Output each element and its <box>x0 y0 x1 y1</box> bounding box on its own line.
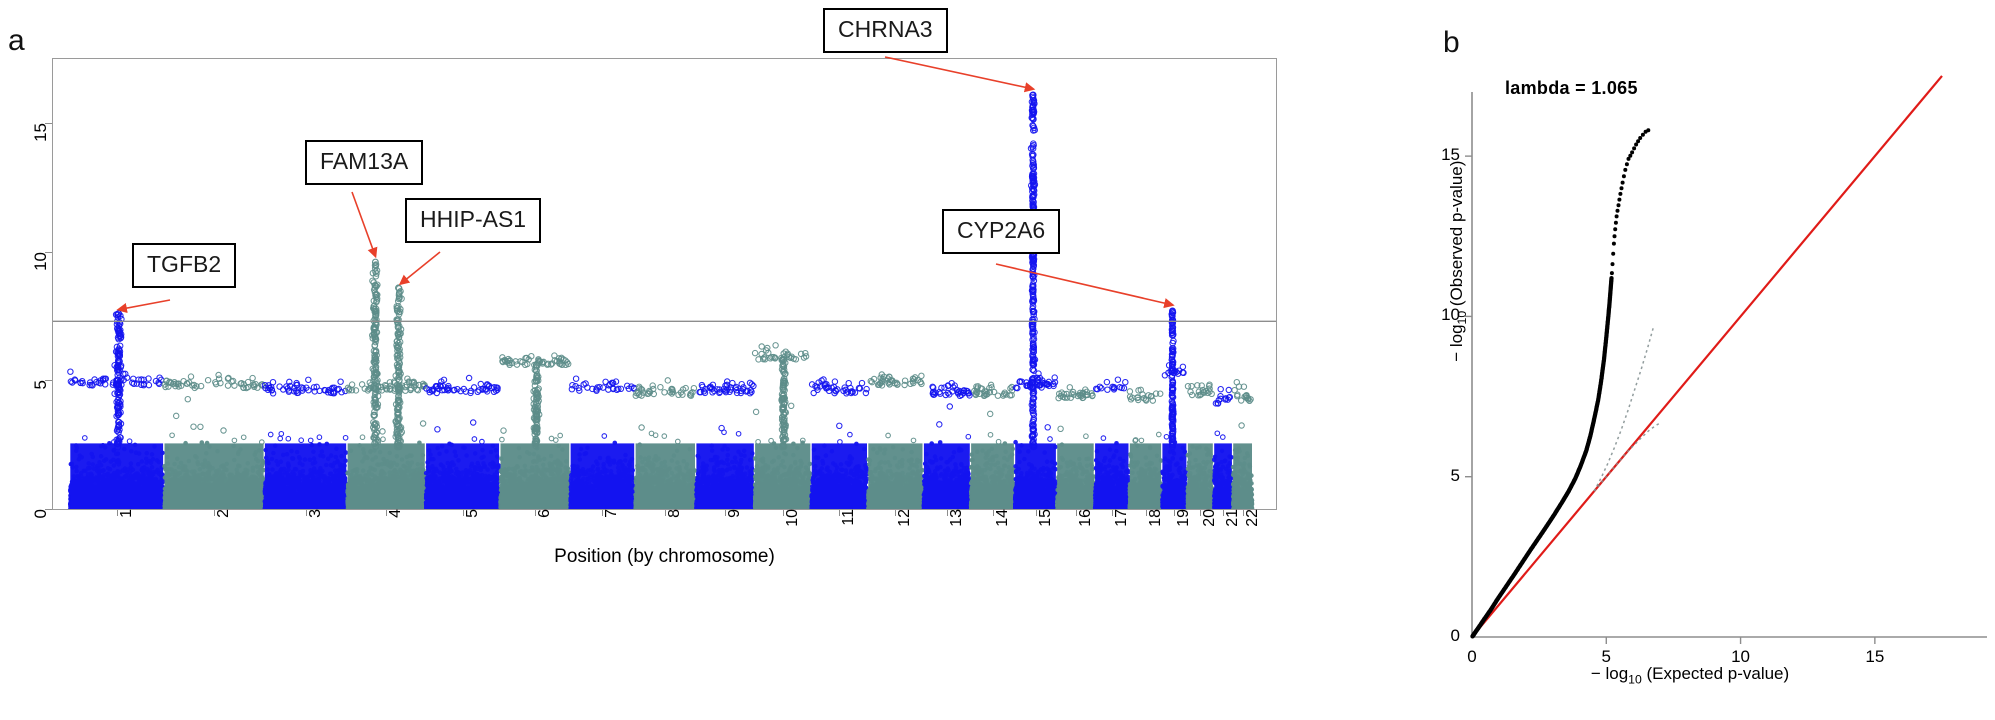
panel-a-manhattan: a − log10 (P) 051015 1234567891011121314… <box>0 0 1400 720</box>
gene-label-hhip-as1[interactable]: HHIP-AS1 <box>405 198 541 243</box>
x-axis-title-qq-sub: 10 <box>1628 672 1642 686</box>
qq-y-tick-label: 0 <box>1426 626 1460 646</box>
figure-root: a − log10 (P) 051015 1234567891011121314… <box>0 0 1995 720</box>
x-axis-title-qq: − log10 (Expected p-value) <box>1430 664 1950 686</box>
gene-label-tgfb2[interactable]: TGFB2 <box>132 243 236 288</box>
panel-b-qq: b lambda = 1.065 − log10 (Observed p-val… <box>1400 0 1995 720</box>
qq-y-tick-label: 10 <box>1426 305 1460 325</box>
gene-label-cyp2a6[interactable]: CYP2A6 <box>942 209 1060 254</box>
qq-plot-svg <box>1400 0 1995 720</box>
x-axis-title-qq-suffix: (Expected p-value) <box>1642 664 1789 683</box>
gene-label-fam13a[interactable]: FAM13A <box>305 140 423 185</box>
gene-label-chrna3[interactable]: CHRNA3 <box>823 8 948 53</box>
qq-y-tick-label: 15 <box>1426 145 1460 165</box>
x-axis-title-qq-prefix: − log <box>1591 664 1628 683</box>
qq-y-tick-label: 5 <box>1426 466 1460 486</box>
